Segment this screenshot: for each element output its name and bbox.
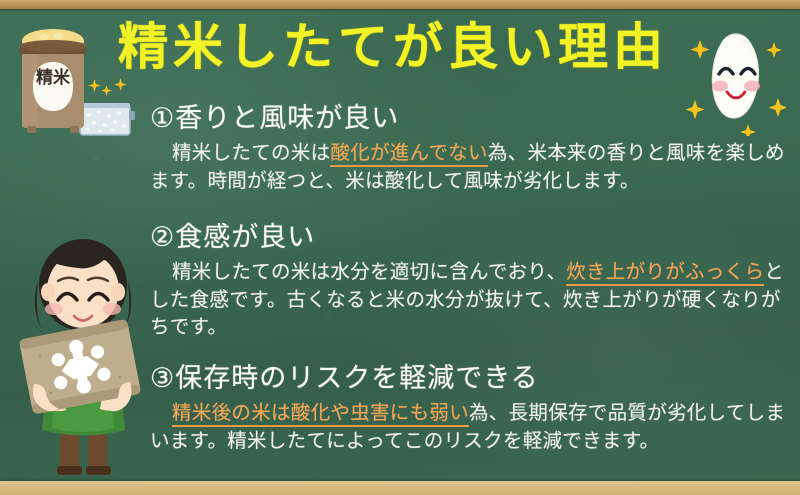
chalkboard-poster: 精米 — [0, 0, 800, 495]
section-3-highlight: 精米後の米は酸化や虫害にも弱い — [172, 401, 469, 427]
section-1-highlight: 酸化が進んでない — [330, 141, 487, 167]
rice-grain-mascot-illustration — [686, 24, 786, 136]
rice-bag-label-top: 精米 — [36, 67, 71, 88]
rice-bag-illustration: 精米 — [14, 24, 92, 136]
woman-holding-rice-sack-illustration — [12, 228, 154, 478]
content-area: ①香りと風味が良い 精米したての米は酸化が進んでない為、米本来の香りと風味を楽し… — [150, 103, 800, 462]
section-2: ②食感が良い 精米したての米は水分を適切に含んでおり、炊き上がりがふっくらとした… — [150, 222, 800, 341]
section-1-body: 精米したての米は酸化が進んでない為、米本来の香りと風味を楽しめます。時間が経つと… — [150, 139, 800, 194]
section-2-text-a: 精米したての米は水分を適切に含んでおり、 — [172, 260, 566, 283]
sparkle-star-icon — [114, 78, 127, 91]
sparkle-star-icon — [686, 100, 705, 119]
section-2-highlight: 炊き上がりがふっくら — [566, 260, 764, 286]
section-3-body: 精米後の米は酸化や虫害にも弱い為、長期保存で品質が劣化してしまいます。精米したて… — [150, 399, 800, 454]
sparkle-star-icon — [740, 124, 756, 136]
section-3-heading: ③保存時のリスクを軽減できる — [150, 363, 800, 395]
board-frame-bottom — [0, 481, 800, 495]
sparkle-star-icon — [101, 85, 112, 96]
sparkle-star-icon — [769, 98, 787, 117]
sparkle-star-icon — [691, 40, 710, 59]
sparkle-star-icon — [766, 42, 782, 58]
section-3: ③保存時のリスクを軽減できる 精米後の米は酸化や虫害にも弱い為、長期保存で品質が… — [150, 363, 800, 454]
section-2-body: 精米したての米は水分を適切に含んでおり、炊き上がりがふっくらとした食感です。古く… — [150, 258, 800, 341]
section-1-text-a: 精米したての米は — [172, 141, 330, 164]
board-frame-top — [0, 0, 800, 9]
sparkle-star-icon — [88, 79, 101, 92]
page-title: 精米したてが良い理由 — [118, 22, 668, 72]
section-2-heading: ②食感が良い — [150, 222, 800, 254]
